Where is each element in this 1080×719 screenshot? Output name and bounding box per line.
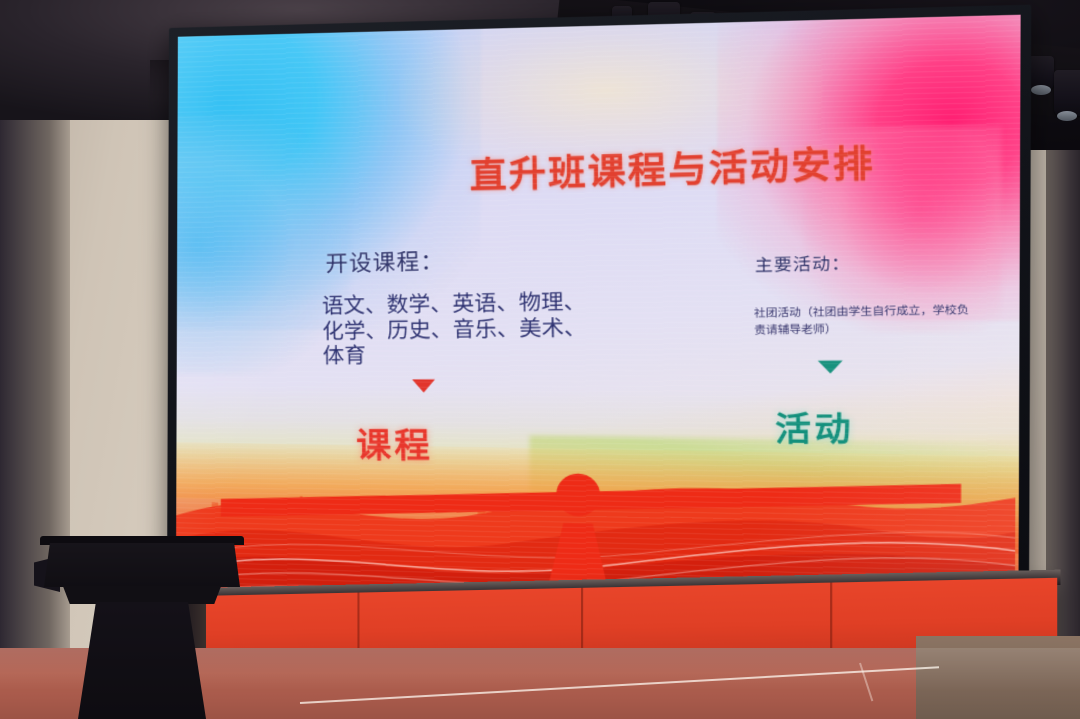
activities-note: 社团活动（社团由学生自行成立，学校负责请辅导老师） — [754, 301, 977, 339]
presentation-slide: 直升班课程与活动安排 开设课程： 语文、数学、英语、物理、化学、历史、音乐、美术… — [176, 15, 1021, 628]
courses-list: 语文、数学、英语、物理、化学、历史、音乐、美术、体育 — [322, 290, 602, 371]
stage-light-icon — [1054, 70, 1080, 116]
led-screen: 直升班课程与活动安排 开设课程： 语文、数学、英语、物理、化学、历史、音乐、美术… — [167, 5, 1031, 638]
podium-body — [78, 602, 206, 719]
activities-label: 活动 — [775, 403, 855, 452]
down-triangle-icon-courses — [412, 379, 435, 393]
activities-heading: 主要活动： — [755, 249, 851, 277]
courses-label: 课程 — [356, 417, 433, 467]
screen-bezel: 直升班课程与活动安排 开设课程： 语文、数学、英语、物理、化学、历史、音乐、美术… — [167, 5, 1031, 638]
stage-light-icon — [1028, 56, 1054, 90]
podium-head — [44, 543, 240, 587]
stage-scene: 直升班课程与活动安排 开设课程： 语文、数学、英语、物理、化学、历史、音乐、美术… — [0, 0, 1080, 719]
screen-surface: 直升班课程与活动安排 开设课程： 语文、数学、英语、物理、化学、历史、音乐、美术… — [176, 15, 1021, 628]
slide-title: 直升班课程与活动安排 — [469, 134, 875, 200]
podium-neck — [56, 586, 228, 604]
podium — [34, 536, 250, 719]
down-triangle-icon-activities — [818, 361, 843, 374]
slide-text-layer: 直升班课程与活动安排 开设课程： 语文、数学、英语、物理、化学、历史、音乐、美术… — [176, 15, 1021, 619]
courses-heading: 开设课程： — [325, 243, 444, 278]
